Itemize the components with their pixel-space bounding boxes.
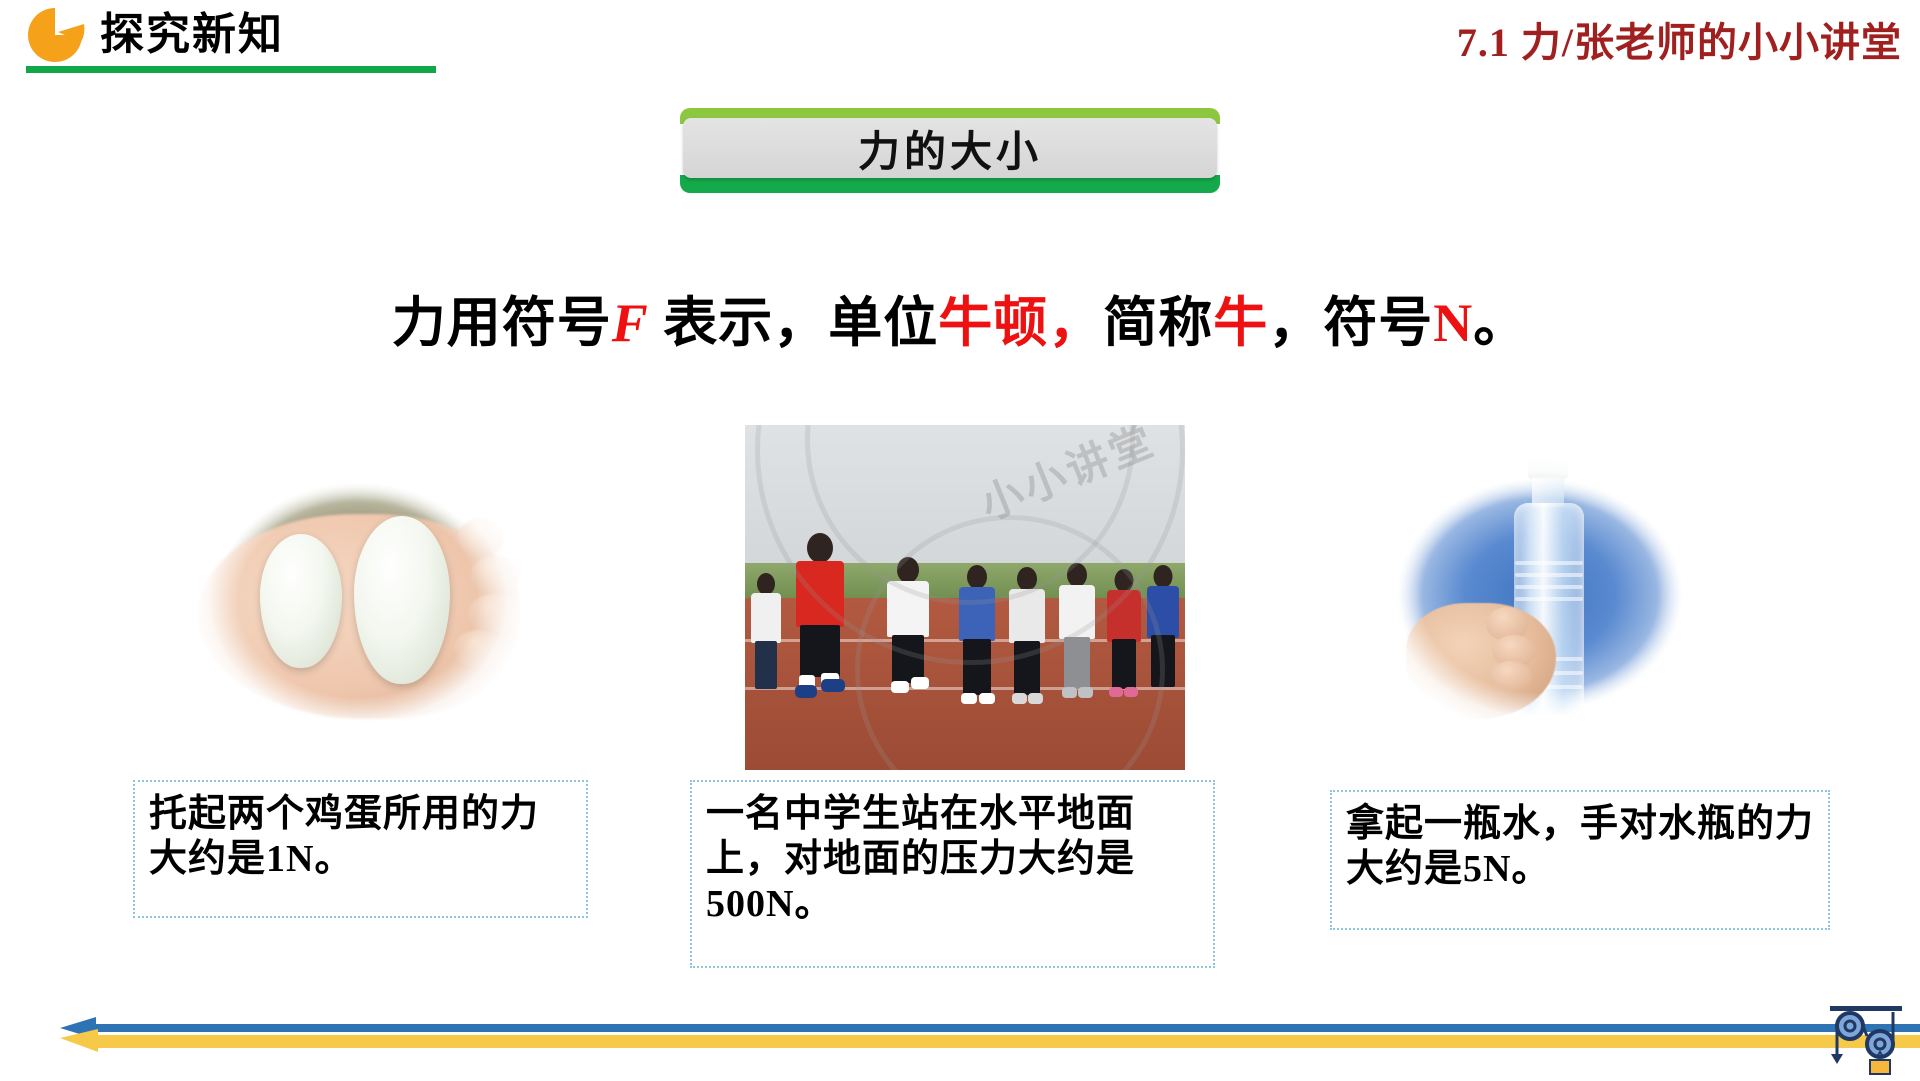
student-standing xyxy=(749,573,783,705)
caption-eggs: 托起两个鸡蛋所用的力大约是1N。 xyxy=(133,780,588,918)
statement-part-1: 力用符号 xyxy=(392,293,612,353)
caption-students: 一名中学生站在水平地面上，对地面的压力大约是500N。 xyxy=(690,780,1215,968)
bottle-cap xyxy=(1528,457,1568,479)
example-panel-eggs: 托起两个鸡蛋所用的力大约是1N。 xyxy=(158,440,558,760)
yellow-arrow-shaft xyxy=(95,1035,1920,1048)
section-title-plate: 力的大小 xyxy=(680,108,1220,193)
finger-shape xyxy=(468,594,518,634)
page-title: 探究新知 xyxy=(100,13,284,57)
stock-watermark xyxy=(266,608,456,634)
knuckle-shape xyxy=(1490,661,1532,691)
caption-bottle: 拿起一瓶水，手对水瓶的力大约是5N。 xyxy=(1330,790,1830,930)
finger-shape xyxy=(470,556,520,596)
statement-part-2: 表示，单位 xyxy=(649,293,939,353)
students-standing-on-track-photo: 小小讲堂 xyxy=(745,425,1185,770)
finger-shape xyxy=(458,518,504,558)
unit-newton-short: 牛 xyxy=(1213,293,1268,353)
finger-shape xyxy=(454,630,502,668)
section-title-text: 力的大小 xyxy=(858,118,1042,179)
statement-part-4: ，符号 xyxy=(1268,293,1433,353)
pie-chart-icon xyxy=(24,4,86,66)
unit-newton-symbol: N xyxy=(1433,293,1473,353)
unit-newton-full: 牛顿， xyxy=(938,293,1103,353)
footer-arrows xyxy=(0,1016,1920,1052)
plate-body: 力的大小 xyxy=(683,118,1217,178)
force-symbol: F xyxy=(612,293,649,353)
header-brand: 探究新知 xyxy=(24,4,284,66)
example-panel-students: 小小讲堂 一名中学生站在水平地面上，对地面的压力大约是500N。 xyxy=(745,425,1185,770)
egg-large xyxy=(354,516,450,684)
statement-part-3: 简称 xyxy=(1103,293,1213,353)
example-panel-bottle: 拿起一瓶水，手对水瓶的力大约是5N。 xyxy=(1340,435,1740,755)
hand-holding-water-bottle-photo xyxy=(1340,435,1740,755)
egg-small xyxy=(260,534,342,668)
breadcrumb: 7.1 力/张老师的小小讲堂 xyxy=(1457,10,1902,68)
statement-period: 。 xyxy=(1473,293,1528,353)
pulley-icon xyxy=(1810,1002,1906,1076)
definition-statement: 力用符号F 表示，单位牛顿，简称牛，符号N。 xyxy=(0,278,1920,357)
blue-arrow-shaft xyxy=(93,1024,1920,1032)
hand-holding-two-eggs-photo xyxy=(158,440,558,760)
header-underline xyxy=(26,66,436,73)
